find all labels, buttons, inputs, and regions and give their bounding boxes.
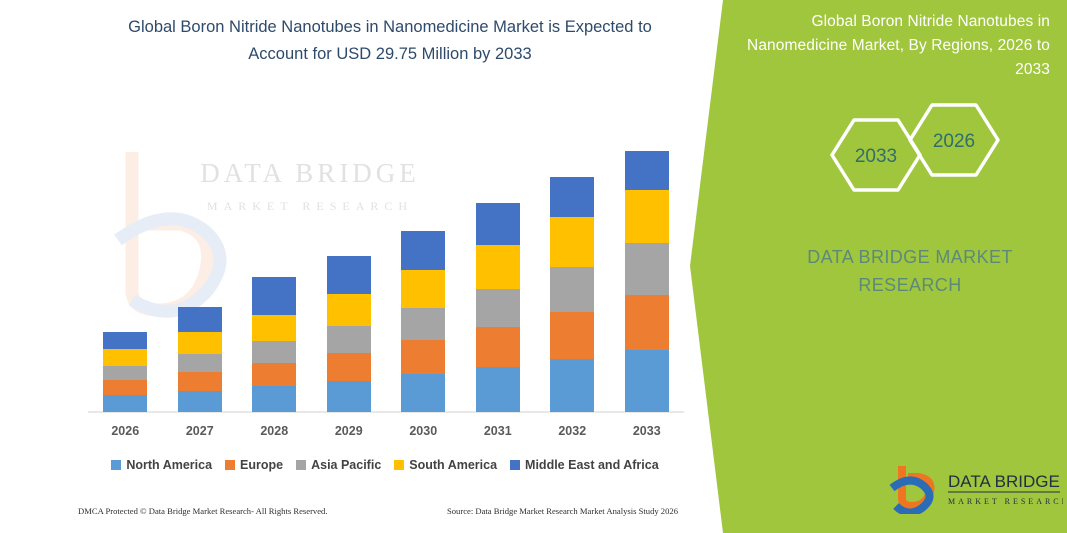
x-axis-label: 2028 (252, 424, 296, 438)
bar-2028 (252, 277, 296, 412)
x-axis-label: 2032 (550, 424, 594, 438)
bar-segment (401, 340, 445, 374)
legend-label: Middle East and Africa (525, 458, 659, 472)
bar-segment (252, 386, 296, 412)
bar-segment (401, 231, 445, 270)
bar-segment (178, 354, 222, 372)
bar-segment (625, 151, 669, 190)
bar-segment (327, 353, 371, 381)
bar-segment (103, 395, 147, 412)
bar-segment (401, 374, 445, 412)
footer: DMCA Protected © Data Bridge Market Rese… (78, 506, 678, 516)
bar-segment (178, 332, 222, 354)
bar-segment (550, 312, 594, 359)
bar-segment (178, 307, 222, 332)
bar-segment (252, 341, 296, 363)
bar-segment (550, 359, 594, 412)
legend-swatch-icon (510, 460, 520, 470)
bar-2027 (178, 307, 222, 412)
bar-segment (550, 267, 594, 312)
bar-segment (178, 391, 222, 412)
bar-segment (550, 217, 594, 267)
logo-line1: DATA BRIDGE (948, 472, 1060, 491)
chart-page: Global Boron Nitride Nanotubes in Nanome… (0, 0, 1067, 533)
legend-label: South America (409, 458, 497, 472)
x-axis-label: 2033 (625, 424, 669, 438)
bar-segment (327, 294, 371, 326)
bar-2029 (327, 256, 371, 412)
panel-brand-text: DATA BRIDGE MARKET RESEARCH (760, 243, 1060, 299)
hex-badges: 2033 2026 (810, 100, 1010, 210)
legend-swatch-icon (111, 460, 121, 470)
hex-2026-label: 2026 (933, 131, 975, 152)
footer-source: Source: Data Bridge Market Research Mark… (447, 506, 678, 516)
bar-2032 (550, 177, 594, 412)
x-axis-labels: 20262027202820292030203120322033 (88, 420, 684, 442)
bar-segment (327, 256, 371, 294)
legend-swatch-icon (394, 460, 404, 470)
bar-segment (178, 372, 222, 391)
hex-2033-label: 2033 (855, 146, 897, 167)
bar-segment (625, 190, 669, 243)
bar-segment (476, 203, 520, 245)
bar-segment (103, 380, 147, 395)
bar-2030 (401, 231, 445, 412)
legend-label: Asia Pacific (311, 458, 381, 472)
bar-segment (476, 327, 520, 367)
logo-line2: MARKET RESEARCH (948, 497, 1063, 506)
x-axis-label: 2029 (327, 424, 371, 438)
bar-segment (103, 366, 147, 380)
bar-segment (476, 367, 520, 412)
bar-2033 (625, 151, 669, 412)
bar-segment (103, 332, 147, 349)
legend-swatch-icon (296, 460, 306, 470)
x-axis-label: 2030 (401, 424, 445, 438)
bar-segment (252, 363, 296, 386)
bar-segment (327, 381, 371, 412)
page-title: Global Boron Nitride Nanotubes in Nanome… (110, 14, 670, 68)
bar-segment (476, 289, 520, 327)
legend-item[interactable]: Asia Pacific (296, 458, 381, 472)
x-axis-label: 2026 (103, 424, 147, 438)
bar-segment (476, 245, 520, 289)
bar-segment (625, 295, 669, 350)
bar-segment (401, 308, 445, 340)
bar-segment (103, 349, 147, 366)
legend-item[interactable]: Middle East and Africa (510, 458, 659, 472)
bar-series-group (88, 95, 684, 412)
legend-item[interactable]: South America (394, 458, 497, 472)
panel-title: Global Boron Nitride Nanotubes in Nanome… (710, 10, 1050, 82)
bar-segment (625, 350, 669, 412)
x-axis-label: 2031 (476, 424, 520, 438)
bar-segment (401, 270, 445, 308)
bar-2031 (476, 203, 520, 412)
legend-item[interactable]: North America (111, 458, 212, 472)
legend-label: North America (126, 458, 212, 472)
bar-2026 (103, 332, 147, 412)
bar-segment (625, 243, 669, 295)
chart-legend: North AmericaEuropeAsia PacificSouth Ame… (85, 455, 685, 475)
bar-segment (252, 315, 296, 341)
bar-segment (327, 326, 371, 353)
databridge-logo: DATA BRIDGE MARKET RESEARCH (888, 462, 1063, 514)
legend-label: Europe (240, 458, 283, 472)
legend-item[interactable]: Europe (225, 458, 283, 472)
footer-copyright: DMCA Protected © Data Bridge Market Rese… (78, 506, 328, 516)
x-axis-label: 2027 (178, 424, 222, 438)
bar-segment (550, 177, 594, 217)
bar-segment (252, 277, 296, 315)
legend-swatch-icon (225, 460, 235, 470)
